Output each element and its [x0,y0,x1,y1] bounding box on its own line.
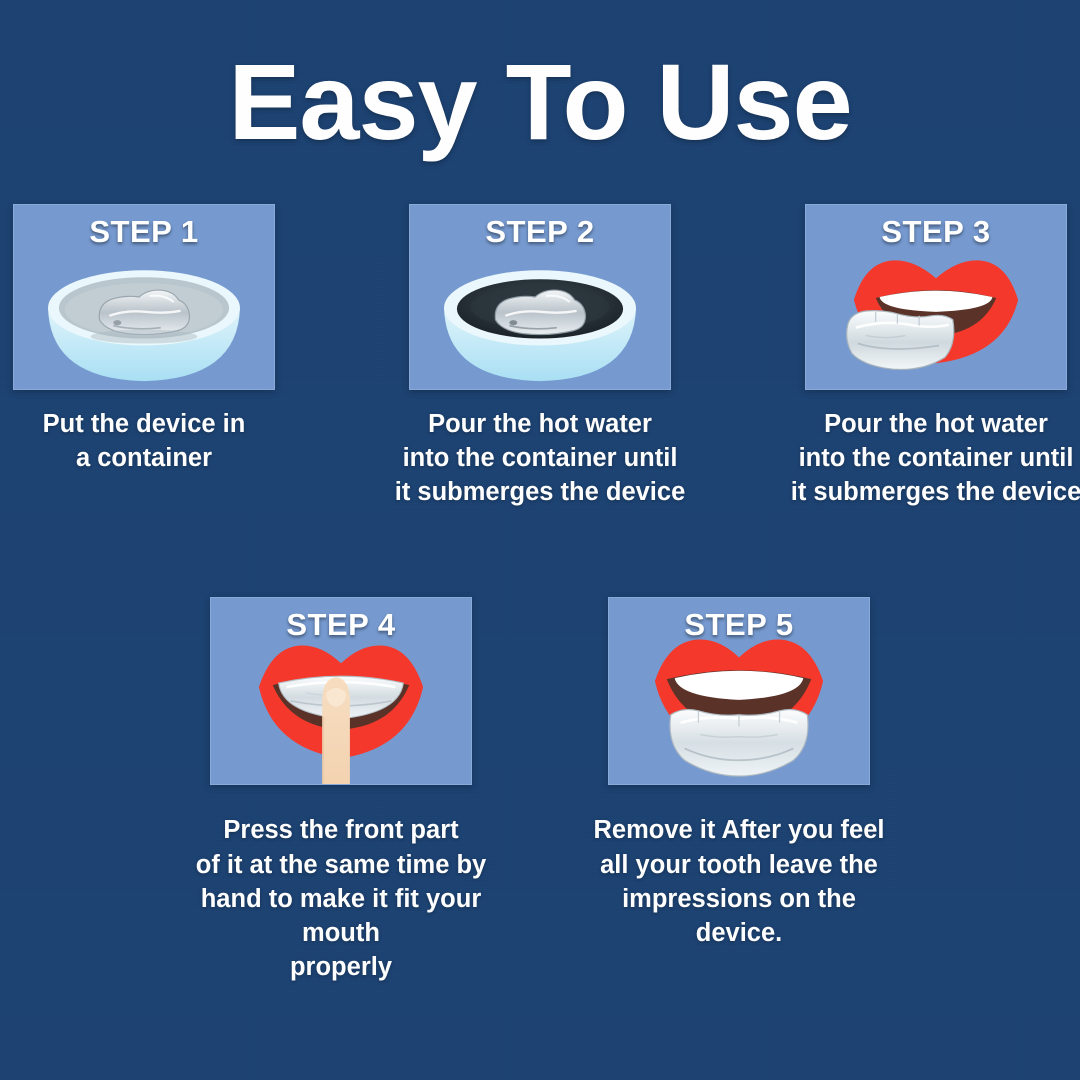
step-card-3[interactable]: STEP 3 Pour the hot water into the conta… [805,204,1067,509]
step-2-image: STEP 2 [409,204,671,390]
step-5-label: STEP 5 [609,607,869,643]
step-2-caption: Pour the hot water into the container un… [384,407,696,509]
step-4-caption: Press the front part of it at the same t… [163,813,519,984]
step-3-label: STEP 3 [806,214,1066,250]
step-5-caption: Remove it After you feel all your tooth … [574,813,904,950]
step-card-5[interactable]: STEP 5 Remove it After you feel all your… [608,597,870,984]
step-5-image: STEP 5 [608,597,870,785]
step-card-1[interactable]: STEP 1 Put the device in a container [13,204,275,509]
page-title: Easy To Use [0,0,1080,156]
step-1-image: STEP 1 [13,204,275,390]
step-1-caption: Put the device in a container [0,407,294,475]
step-3-image: STEP 3 [805,204,1067,390]
step-card-2[interactable]: STEP 2 Pour the hot water into the conta… [409,204,671,509]
step-3-caption: Pour the hot water into the container un… [780,407,1080,509]
step-2-label: STEP 2 [410,214,670,250]
step-4-label: STEP 4 [211,607,471,643]
steps-row-top: STEP 1 Put the device in a container [0,204,1080,509]
step-4-image: STEP 4 [210,597,472,785]
step-card-4[interactable]: STEP 4 Press the front part of it at the… [210,597,472,984]
step-1-label: STEP 1 [14,214,274,250]
steps-row-bottom: STEP 4 Press the front part of it at the… [0,597,1080,984]
